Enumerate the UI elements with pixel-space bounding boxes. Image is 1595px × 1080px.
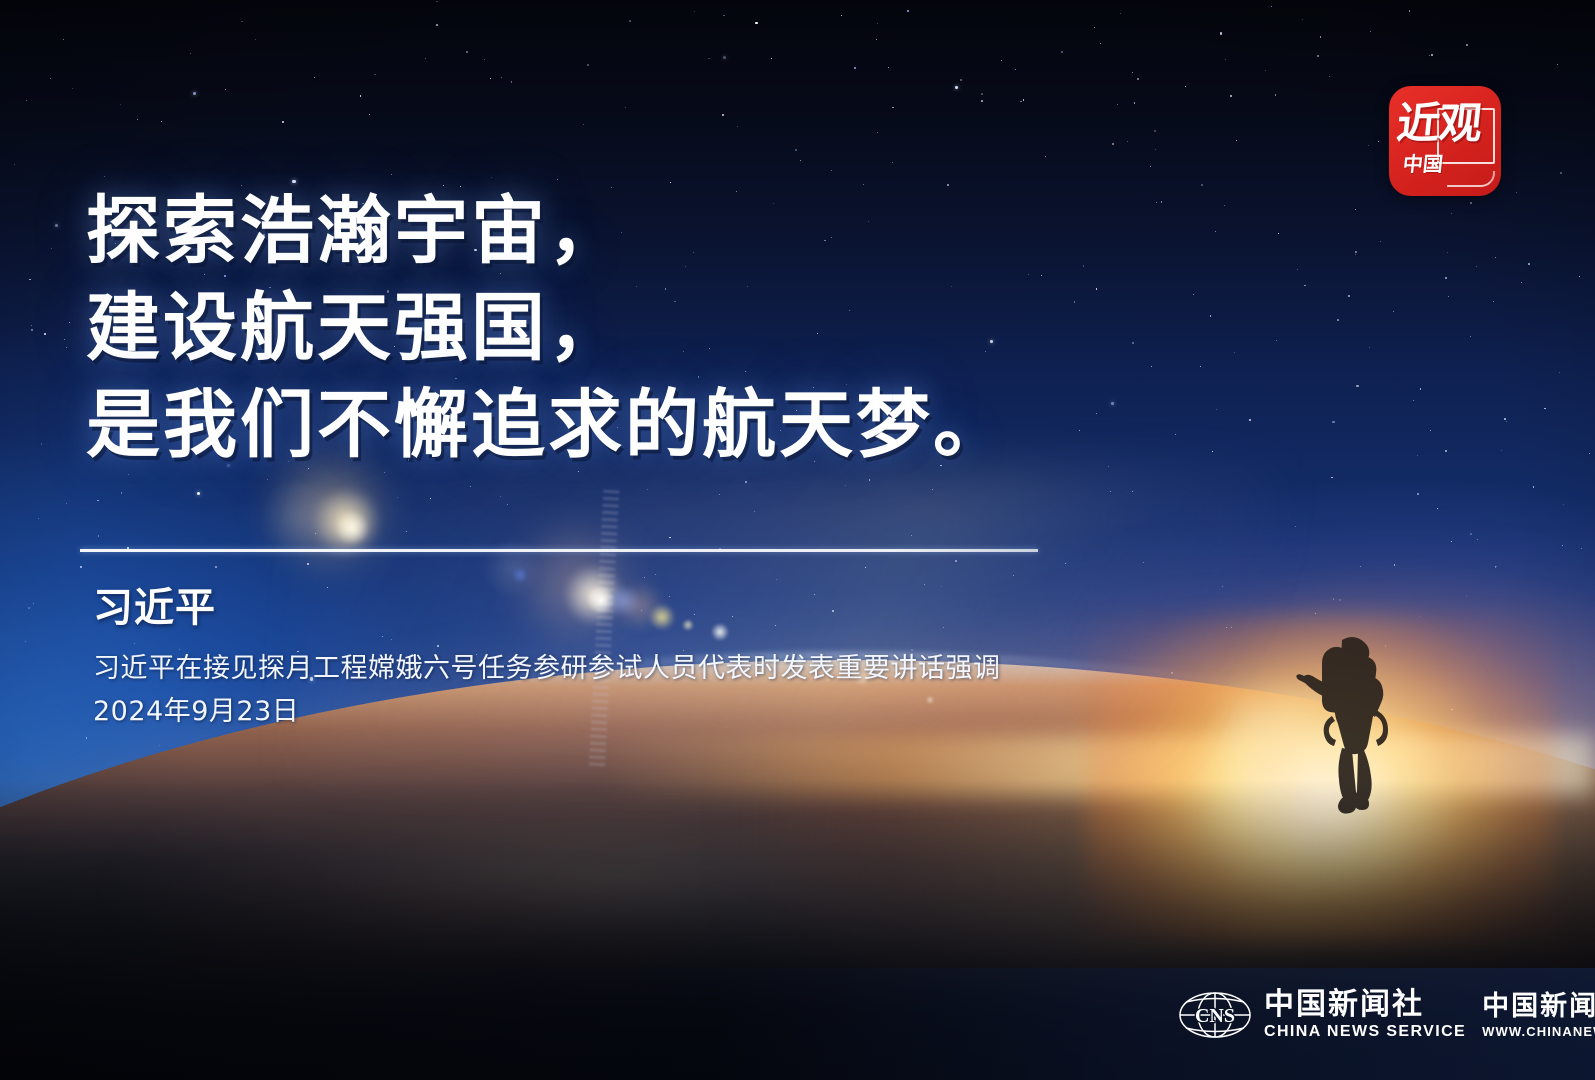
site-name-cn: 中国新闻網 bbox=[1482, 991, 1595, 1022]
poster-canvas: 探索浩瀚宇宙， 建设航天强国， 是我们不懈追求的航天梦。 习近平 习近平在接见探… bbox=[0, 0, 1595, 1080]
agency-name-en: CHINA NEWS SERVICE bbox=[1264, 1022, 1466, 1042]
headline-line-1: 探索浩瀚宇宙， bbox=[86, 183, 1086, 280]
logo-main-text: 近观 bbox=[1394, 93, 1497, 157]
logo-swirl-icon bbox=[1447, 171, 1495, 187]
headline-line-3: 是我们不懈追求的航天梦。 bbox=[86, 377, 1086, 474]
attribution-block: 习近平 习近平在接见探月工程嫦娥六号任务参研参试人员代表时发表重要讲话强调 20… bbox=[93, 583, 1001, 733]
footer-branding: CNS 中国新闻社 CHINA NEWS SERVICE 中国新闻網 WWW.C… bbox=[1178, 988, 1595, 1042]
footer-text-group: 中国新闻社 CHINA NEWS SERVICE 中国新闻網 WWW.CHINA… bbox=[1264, 988, 1595, 1042]
agency-column: 中国新闻社 CHINA NEWS SERVICE bbox=[1264, 988, 1466, 1042]
agency-name-cn: 中国新闻社 bbox=[1264, 988, 1466, 1022]
attribution-divider bbox=[80, 549, 1038, 552]
speaker-name: 习近平 bbox=[93, 583, 1001, 633]
jinguan-zhongguo-logo[interactable]: 近观 中国 bbox=[1389, 86, 1501, 196]
headline-line-2: 建设航天强国， bbox=[86, 280, 1086, 377]
site-url: WWW.CHINANEWS.COM bbox=[1482, 1022, 1595, 1042]
site-column[interactable]: 中国新闻網 WWW.CHINANEWS.COM bbox=[1482, 991, 1595, 1042]
cns-globe-icon: CNS bbox=[1178, 990, 1252, 1040]
speech-date: 2024年9月23日 bbox=[93, 691, 1001, 733]
speech-occasion: 习近平在接见探月工程嫦娥六号任务参研参试人员代表时发表重要讲话强调 bbox=[93, 647, 1001, 691]
logo-sub-text: 中国 bbox=[1402, 152, 1445, 176]
headline-block: 探索浩瀚宇宙， 建设航天强国， 是我们不懈追求的航天梦。 bbox=[86, 183, 1086, 474]
poster-content: 探索浩瀚宇宙， 建设航天强国， 是我们不懈追求的航天梦。 习近平 习近平在接见探… bbox=[0, 0, 1595, 1080]
cns-globe-label: CNS bbox=[1195, 1005, 1235, 1027]
